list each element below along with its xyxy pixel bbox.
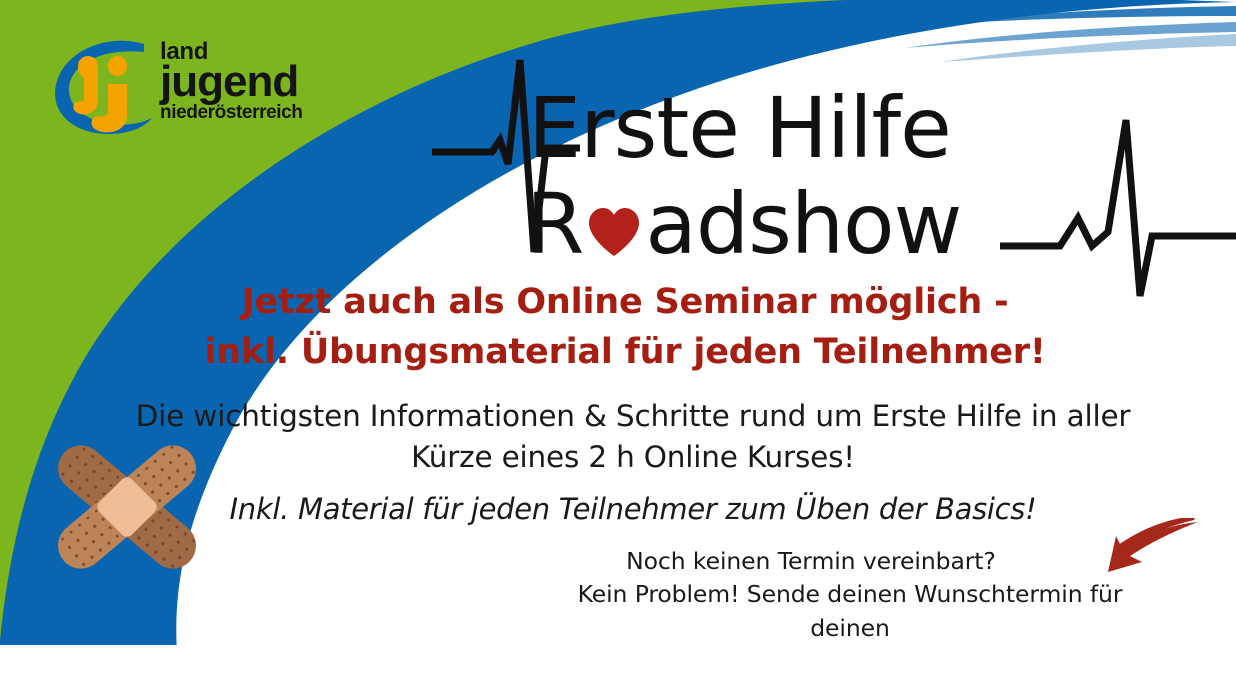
heart-icon-slot [583, 201, 645, 263]
body-italic-line: Inkl. Material für jeden Teilnehmer zum … [88, 492, 1178, 526]
title-line-1: Erste Hilfe [528, 86, 951, 170]
headline: Jetzt auch als Online Seminar möglich - … [130, 278, 1120, 377]
curved-arrow-down-left-icon [1090, 518, 1202, 580]
footer: Bundesministerium Landwirtschaft, Region… [0, 645, 1236, 695]
heart-icon [587, 207, 641, 257]
title-line-2: Radshow [526, 182, 961, 266]
contact-line-2: Kein Problem! Sende deinen Wunschtermin … [560, 578, 1140, 645]
body-text: Die wichtigsten Informationen & Schritte… [88, 396, 1178, 477]
headline-line-1: Jetzt auch als Online Seminar möglich - [130, 278, 1120, 328]
body-line-2: Kürze eines 2 h Online Kurses! [88, 437, 1178, 478]
title-block: Erste Hilfe Radshow [430, 52, 1220, 272]
title-line-2-rest: adshow [645, 175, 961, 273]
crossed-adhesive-bandages-icon [32, 432, 222, 582]
headline-line-2: inkl. Übungsmaterial für jeden Teilnehme… [130, 328, 1120, 378]
body-line-1: Die wichtigsten Informationen & Schritte… [88, 396, 1178, 437]
poster-canvas: land jugend niederösterreich Erste Hilfe… [0, 0, 1236, 695]
title-letter-r: R [526, 175, 583, 273]
contact-line-1: Noch keinen Termin vereinbart? [560, 545, 1140, 578]
